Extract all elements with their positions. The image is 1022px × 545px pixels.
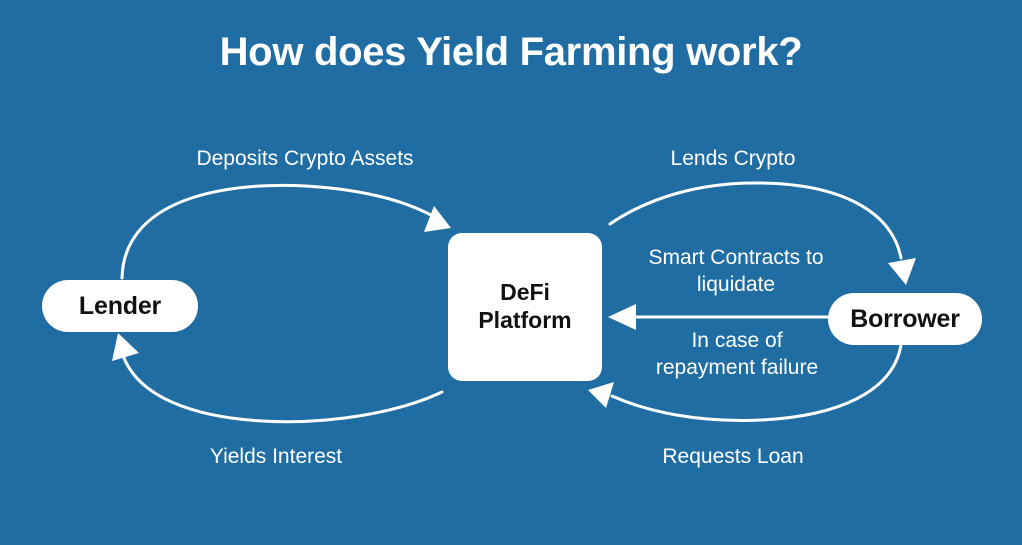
edge-yields-curve (124, 358, 442, 422)
diagram-canvas: How does Yield Farming work? Lender DeFi… (0, 0, 1022, 545)
node-borrower-label: Borrower (850, 305, 960, 334)
arrowhead-requests (588, 382, 614, 408)
edge-label-lends: Lends Crypto (620, 146, 846, 173)
node-platform-label-line1: DeFi (500, 279, 550, 307)
node-borrower[interactable]: Borrower (828, 293, 982, 345)
edge-label-in-case: In case of repayment failure (650, 328, 824, 382)
edge-label-smart-contracts: Smart Contracts to liquidate (636, 245, 836, 299)
edge-label-deposits: Deposits Crypto Assets (155, 146, 455, 173)
edge-deposits-curve (122, 185, 440, 278)
arrowhead-lends (888, 258, 916, 285)
arrowhead-yields (112, 333, 139, 361)
node-lender[interactable]: Lender (42, 280, 198, 332)
edge-label-requests: Requests Loan (620, 444, 846, 471)
node-platform-label-line2: Platform (478, 307, 571, 335)
arrowhead-liquidate (608, 304, 636, 330)
node-defi-platform[interactable]: DeFi Platform (448, 233, 602, 381)
edge-label-yields: Yields Interest (165, 444, 387, 471)
node-lender-label: Lender (79, 292, 161, 321)
arrowhead-deposits (424, 206, 451, 232)
